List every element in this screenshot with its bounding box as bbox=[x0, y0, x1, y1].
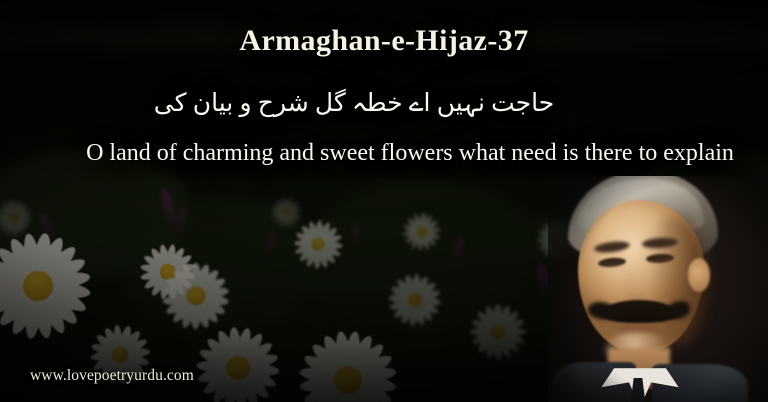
urdu-verse-line: حاجت نہیں اے خطہ گل شرح و بیان کی bbox=[0, 86, 768, 122]
english-translation: O land of charming and sweet flowers wha… bbox=[70, 138, 750, 169]
page-title: Armaghan-e-Hijaz-37 bbox=[0, 24, 768, 58]
iqbal-portrait bbox=[548, 176, 768, 402]
poetry-poster: Armaghan-e-Hijaz-37 حاجت نہیں اے خطہ گل … bbox=[0, 0, 768, 402]
site-watermark: www.lovepoetryurdu.com bbox=[30, 367, 194, 385]
portrait-edge-blend bbox=[548, 176, 768, 402]
